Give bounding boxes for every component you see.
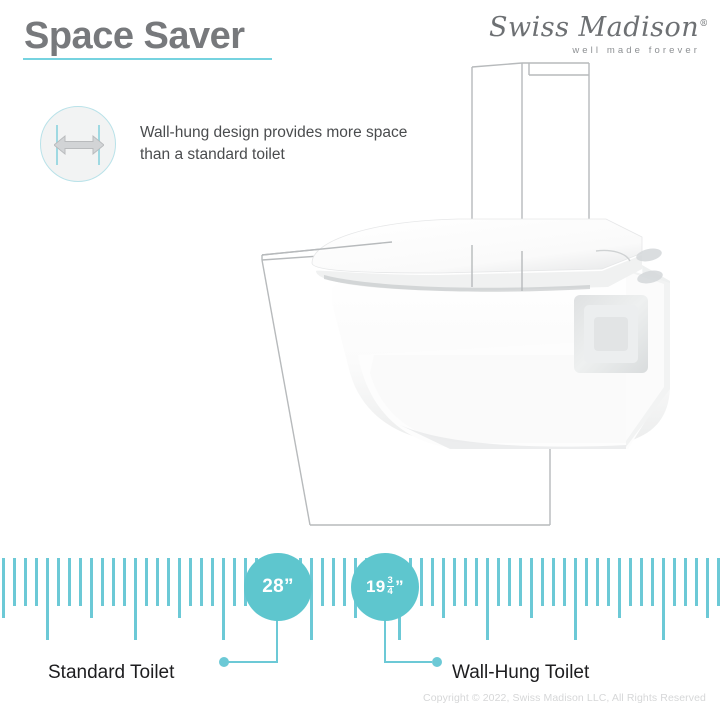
measurement-badge-wall-hung-toilet: 1934” (351, 553, 419, 621)
badge-fraction-numerator: 3 (387, 576, 395, 587)
brand-name-text: Swiss Madison (489, 12, 699, 43)
toilet-seat-and-lid (312, 219, 642, 292)
flush-plate-recess (574, 295, 648, 373)
badge-fraction-denominator: 4 (387, 587, 395, 597)
connector-standard-toilet (228, 619, 277, 662)
connector-dot-standard (219, 657, 229, 667)
title-underline (23, 58, 272, 60)
infographic-page: Space Saver Swiss Madison® well made for… (0, 0, 720, 720)
legend-label-wall-hung-toilet: Wall-Hung Toilet (452, 662, 589, 684)
page-title: Space Saver (24, 17, 245, 57)
connector-wall-hung-toilet (385, 619, 432, 662)
double-arrow-glyph (54, 133, 104, 157)
legend-label-standard-toilet: Standard Toilet (48, 662, 174, 684)
brand-name: Swiss Madison® (489, 14, 704, 41)
connector-dot-wall-hung (432, 657, 442, 667)
badge-unit-wall-hung: ” (395, 577, 404, 597)
product-illustration (250, 55, 720, 555)
registered-mark-icon: ® (699, 19, 709, 29)
copyright-notice: Copyright © 2022, Swiss Madison LLC, All… (423, 692, 706, 704)
measurement-badge-standard-toilet: 28” (244, 553, 312, 621)
brand-logo: Swiss Madison® well made forever (489, 14, 704, 56)
badge-whole-wall-hung: 19 (366, 577, 386, 597)
badge-fraction-wall-hung: 34 (387, 576, 395, 597)
horizontal-double-arrow-icon (40, 106, 116, 182)
badge-value-standard: 28” (262, 576, 294, 598)
